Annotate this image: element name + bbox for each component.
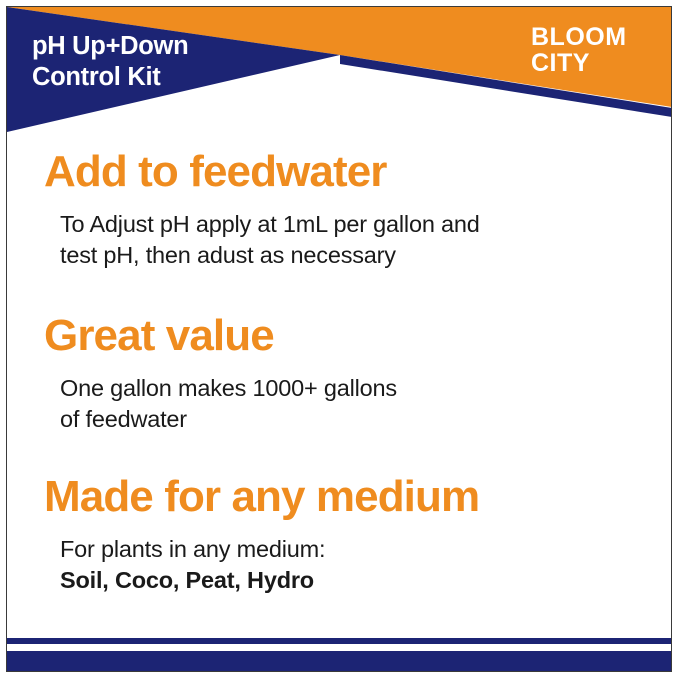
feature-block-great-value: Great value One gallon makes 1000+ gallo… bbox=[0, 314, 679, 436]
feature-block-made-for-any-medium: Made for any medium For plants in any me… bbox=[0, 475, 679, 597]
brand-logo: BLOOM CITY bbox=[531, 25, 672, 91]
bottom-rule bbox=[7, 638, 672, 644]
feature-block-add-to-feedwater: Add to feedwater To Adjust pH apply at 1… bbox=[0, 150, 679, 272]
feature-body: To Adjust pH apply at 1mL per gallon and… bbox=[0, 194, 679, 272]
feature-list: Add to feedwater To Adjust pH apply at 1… bbox=[0, 150, 679, 597]
page-title: pH Up+Down Control Kit bbox=[32, 31, 332, 93]
block-spacer bbox=[0, 272, 679, 314]
bloom-city-bud-icon bbox=[587, 37, 672, 132]
feature-body: For plants in any medium: bbox=[0, 519, 679, 565]
feature-heading: Great value bbox=[0, 314, 679, 358]
feature-body-emphasis: Soil, Coco, Peat, Hydro bbox=[0, 565, 679, 596]
block-spacer bbox=[0, 435, 679, 475]
product-infographic: pH Up+Down Control Kit BLOOM CITY bbox=[0, 0, 679, 679]
feature-heading: Add to feedwater bbox=[0, 150, 679, 194]
bottom-bar bbox=[7, 651, 672, 672]
feature-heading: Made for any medium bbox=[0, 475, 679, 519]
feature-body: One gallon makes 1000+ gallons of feedwa… bbox=[0, 358, 679, 436]
header-banner: pH Up+Down Control Kit BLOOM CITY bbox=[7, 7, 672, 132]
